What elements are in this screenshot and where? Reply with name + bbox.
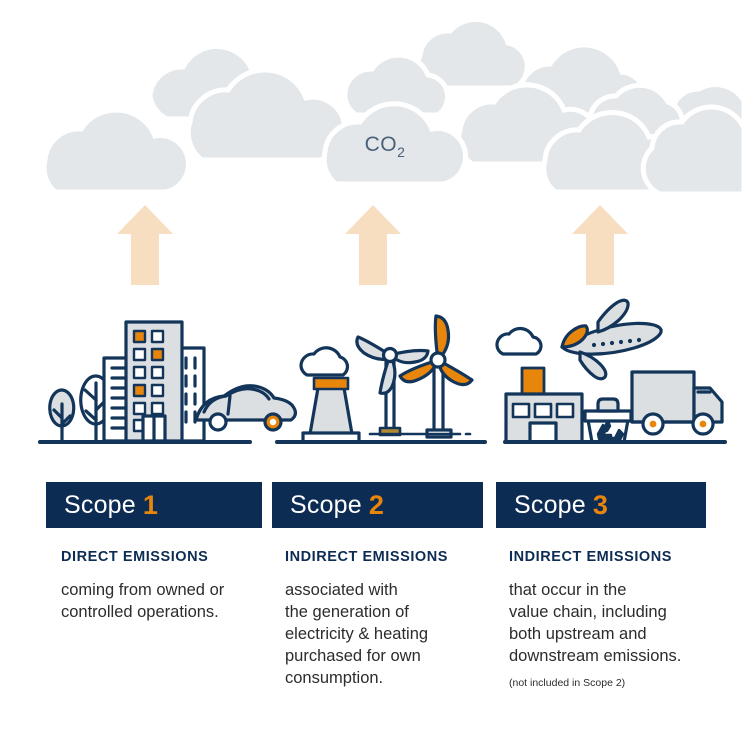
scope-bar-1[interactable]: Scope 1: [46, 482, 262, 528]
infographic-canvas: CO2: [0, 0, 750, 750]
smoke-cloud-scope3-icon: [497, 328, 541, 354]
car-icon: [196, 386, 295, 430]
wind-turbine-orange-icon: [400, 316, 472, 437]
scope-1-body: coming from owned or controlled operatio…: [61, 580, 261, 624]
airplane-icon: [562, 300, 661, 379]
recycling-bin-icon: [585, 399, 631, 442]
scope-2-body: associated with the generation of electr…: [285, 580, 485, 690]
scope-bar-2-word: Scope: [290, 493, 362, 518]
scope2-scene: [277, 316, 485, 442]
scope-3-heading: INDIRECT EMISSIONS: [509, 549, 714, 566]
scope-bar-3-word: Scope: [514, 493, 586, 518]
scope1-scene: [40, 322, 295, 442]
scope-bar-2-number: 2: [369, 492, 384, 519]
smoke-cloud-scope2-icon: [301, 348, 347, 375]
scope-bar-3[interactable]: Scope 3: [496, 482, 706, 528]
tree-small-icon: [50, 390, 74, 441]
scope-3-text-column: INDIRECT EMISSIONS that occur in the val…: [509, 549, 714, 690]
scope-3-body: that occur in the value chain, including…: [509, 580, 714, 668]
delivery-truck-icon: [632, 372, 722, 434]
wind-turbine-gray-icon: [357, 337, 428, 435]
cooling-tower-icon: [303, 378, 359, 442]
factory-icon: [506, 368, 582, 442]
scope-bar-1-number: 1: [143, 492, 158, 519]
scope-1-text-column: DIRECT EMISSIONS coming from owned or co…: [61, 549, 261, 624]
scope-3-note: (not included in Scope 2): [509, 677, 714, 690]
scope-2-text-column: INDIRECT EMISSIONS associated with the g…: [285, 549, 485, 690]
scope3-scene: [497, 300, 725, 442]
scope-bar-3-number: 3: [593, 492, 608, 519]
scope-2-heading: INDIRECT EMISSIONS: [285, 549, 485, 566]
scope-bar-2[interactable]: Scope 2: [272, 482, 483, 528]
office-tower-main-icon: [126, 322, 182, 441]
scope-bar-1-word: Scope: [64, 493, 136, 518]
scope-1-heading: DIRECT EMISSIONS: [61, 549, 261, 566]
